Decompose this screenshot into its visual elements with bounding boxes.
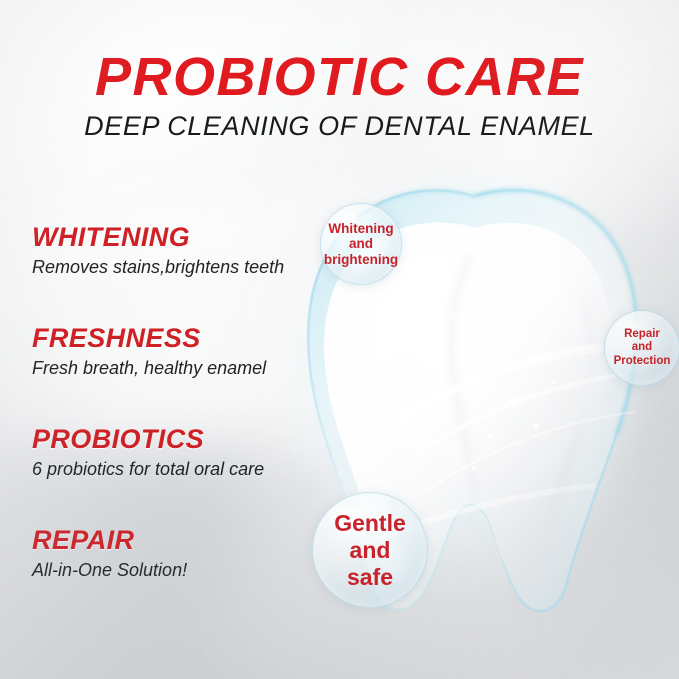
callout-line: Protection: [614, 355, 671, 367]
callout-bubble-text: Repair and Protection: [614, 328, 671, 369]
callout-bubble-text: Whitening and brightening: [324, 221, 398, 268]
callout-line: Repair: [624, 328, 660, 340]
callout-line: brightening: [324, 252, 398, 267]
callout-line: and: [632, 341, 652, 353]
callout-line: and: [349, 236, 373, 251]
callout-line: Whitening: [328, 221, 393, 236]
callout-line: and: [350, 537, 391, 563]
product-infographic-poster: PROBIOTIC CARE DEEP CLEANING OF DENTAL E…: [0, 0, 679, 679]
callout-bubble-text: Gentle and safe: [334, 510, 406, 591]
callout-line: Gentle: [334, 510, 406, 536]
callout-line: safe: [347, 564, 393, 590]
